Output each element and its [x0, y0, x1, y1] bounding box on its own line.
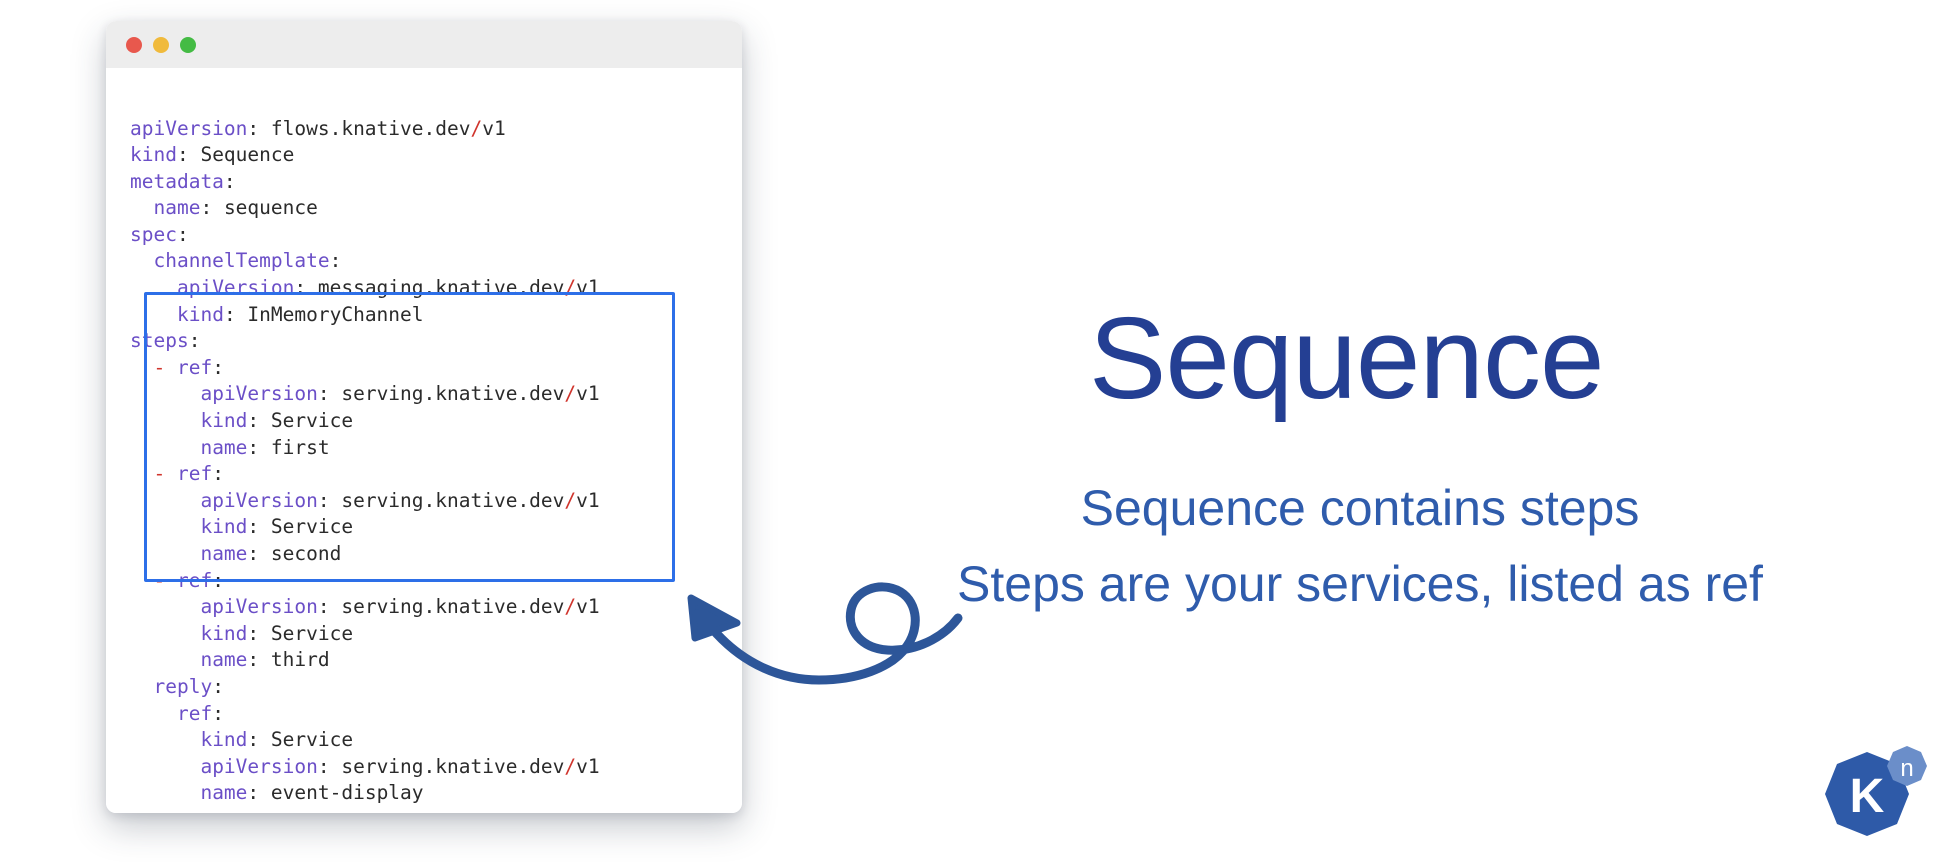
- knative-logo-n-letter: n: [1900, 755, 1913, 782]
- code-line: - ref:: [130, 568, 742, 595]
- code-window: apiVersion: flows.knative.dev/v1kind: Se…: [106, 21, 742, 813]
- subtitle-block: Sequence contains steps Steps are your s…: [905, 470, 1815, 622]
- code-line: - ref:: [130, 461, 742, 488]
- code-line: kind: Sequence: [130, 142, 742, 169]
- subtitle-line-2: Steps are your services, listed as ref: [905, 546, 1815, 622]
- code-line: name: sequence: [130, 195, 742, 222]
- page-title: Sequence: [1089, 300, 1603, 416]
- code-line: kind: Service: [130, 621, 742, 648]
- code-line: apiVersion: serving.knative.dev/v1: [130, 381, 742, 408]
- code-line: steps:: [130, 328, 742, 355]
- subtitle-line-1: Sequence contains steps: [905, 470, 1815, 546]
- code-line: metadata:: [130, 169, 742, 196]
- code-line: spec:: [130, 222, 742, 249]
- yaml-code-block[interactable]: apiVersion: flows.knative.dev/v1kind: Se…: [106, 116, 742, 807]
- knative-logo-k-letter: K: [1850, 770, 1885, 823]
- maximize-button[interactable]: [180, 37, 196, 53]
- code-line: ref:: [130, 701, 742, 728]
- code-line: name: first: [130, 435, 742, 462]
- code-line: kind: Service: [130, 727, 742, 754]
- knative-logo: K n: [1815, 740, 1935, 850]
- code-line: channelTemplate:: [130, 248, 742, 275]
- code-line: apiVersion: serving.knative.dev/v1: [130, 488, 742, 515]
- code-line: apiVersion: flows.knative.dev/v1: [130, 116, 742, 143]
- code-line: name: third: [130, 647, 742, 674]
- code-body: apiVersion: flows.knative.dev/v1kind: Se…: [106, 68, 742, 813]
- code-line: name: event-display: [130, 780, 742, 807]
- code-line: kind: Service: [130, 514, 742, 541]
- code-line: - ref:: [130, 355, 742, 382]
- curved-loop-arrow-icon: [675, 560, 965, 690]
- minimize-button[interactable]: [153, 37, 169, 53]
- code-line: name: second: [130, 541, 742, 568]
- code-line: reply:: [130, 674, 742, 701]
- code-line: apiVersion: messaging.knative.dev/v1: [130, 275, 742, 302]
- code-line: kind: Service: [130, 408, 742, 435]
- code-line: kind: InMemoryChannel: [130, 302, 742, 329]
- close-button[interactable]: [126, 37, 142, 53]
- window-title-bar: [106, 21, 742, 68]
- code-line: apiVersion: serving.knative.dev/v1: [130, 754, 742, 781]
- code-line: apiVersion: serving.knative.dev/v1: [130, 594, 742, 621]
